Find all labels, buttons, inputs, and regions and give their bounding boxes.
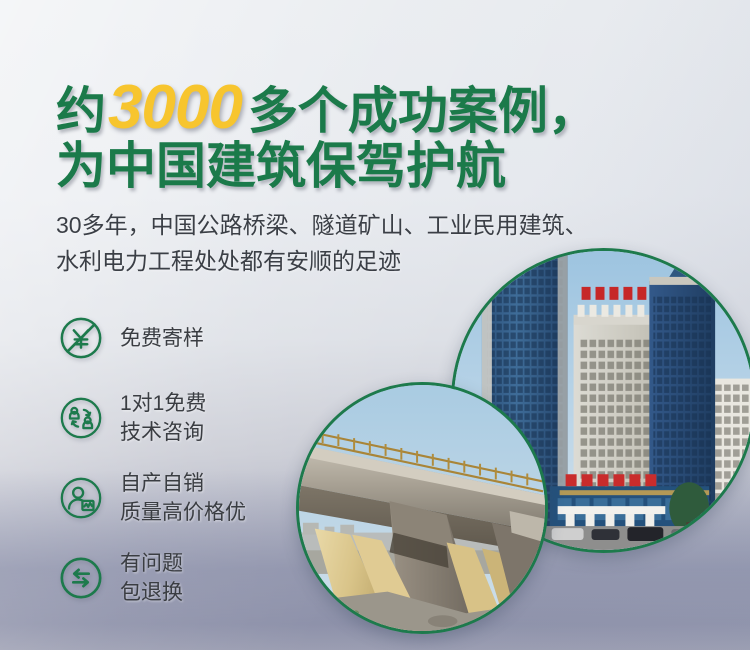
- feature-item-return-exchange[interactable]: 有问题 包退换: [58, 538, 318, 618]
- headline-prefix: 约: [56, 83, 106, 139]
- headline-suffix: 多个成功案例，: [248, 83, 598, 139]
- feature-item-one-on-one-support[interactable]: 1对1免费 技术咨询: [58, 378, 318, 458]
- feature-label: 有问题 包退换: [120, 549, 183, 607]
- free-sample-icon: [58, 315, 104, 361]
- feature-list: 免费寄样 1对1免费 技术咨询: [58, 298, 318, 618]
- headline-number: 3000: [106, 73, 248, 142]
- feature-label-line-1: 1对1免费: [120, 392, 206, 415]
- subtitle-line-1: 30多年，中国公路桥梁、隧道矿山、工业民用建筑、: [56, 212, 588, 238]
- feature-label-line-1: 自产自销: [120, 472, 204, 495]
- bridge-photo: [296, 382, 548, 634]
- self-production-icon: [58, 475, 104, 521]
- headline-line-2: 为中国建筑保驾护航: [56, 138, 506, 194]
- subtitle-line-2: 水利电力工程处处都有安顺的足迹: [56, 243, 588, 279]
- headline-line-1: 约3000多个成功案例，: [56, 72, 598, 143]
- feature-label-line-1: 有问题: [120, 552, 183, 575]
- subtitle: 30多年，中国公路桥梁、隧道矿山、工业民用建筑、 水利电力工程处处都有安顺的足迹: [56, 207, 588, 279]
- feature-label: 1对1免费 技术咨询: [120, 389, 206, 447]
- feature-item-free-sample[interactable]: 免费寄样: [58, 298, 318, 378]
- feature-label-line-2: 质量高价格优: [120, 501, 246, 524]
- return-exchange-icon: [58, 555, 104, 601]
- feature-label-line-2: 技术咨询: [120, 421, 204, 444]
- banner-stage: 约3000多个成功案例， 为中国建筑保驾护航 30多年，中国公路桥梁、隧道矿山、…: [0, 0, 750, 650]
- feature-label-line-2: 包退换: [120, 581, 183, 604]
- one-on-one-support-icon: [58, 395, 104, 441]
- feature-label-line-1: 免费寄样: [120, 327, 204, 350]
- feature-item-self-production[interactable]: 自产自销 质量高价格优: [58, 458, 318, 538]
- feature-label: 免费寄样: [120, 324, 204, 353]
- feature-label: 自产自销 质量高价格优: [120, 469, 246, 527]
